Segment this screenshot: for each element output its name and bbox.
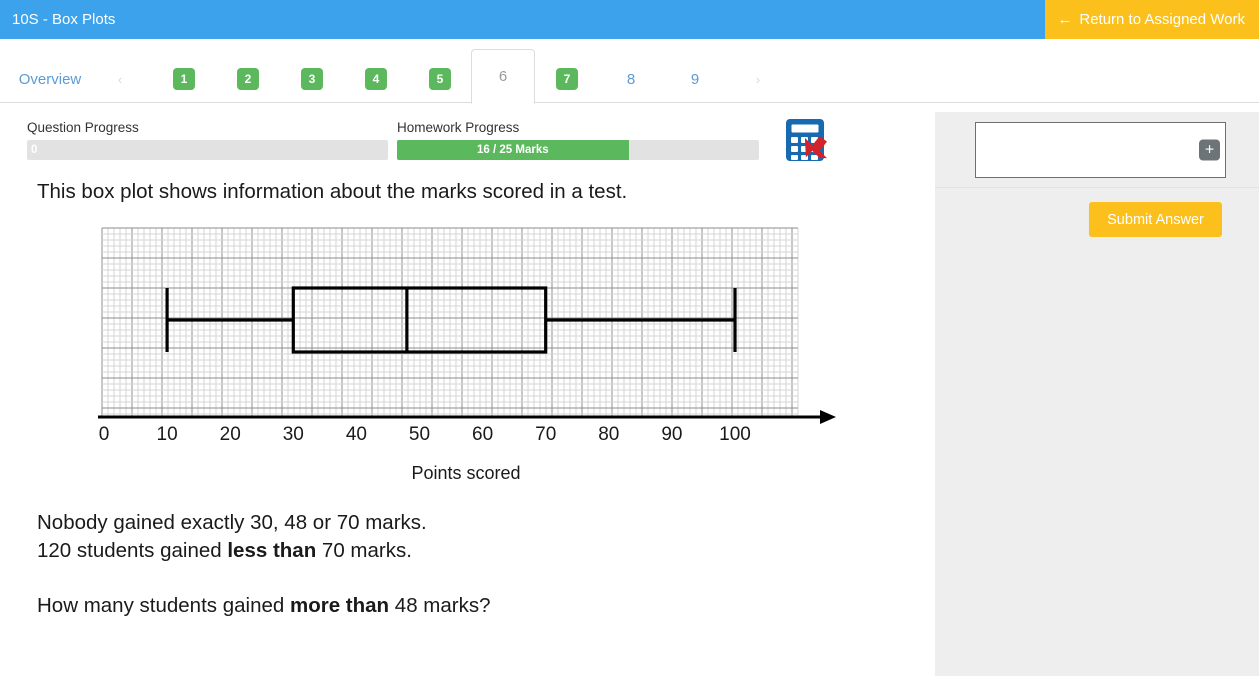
svg-text:10: 10 [157, 424, 178, 441]
back-arrow-icon: ← [1057, 12, 1072, 27]
return-button-label: Return to Assigned Work [1079, 11, 1245, 28]
svg-text:50: 50 [409, 424, 430, 441]
fact-2-suffix: 70 marks. [316, 539, 412, 562]
svg-text:90: 90 [661, 424, 682, 441]
homework-progress-value: 16 / 25 Marks [477, 144, 549, 156]
tab-label: 9 [691, 71, 699, 88]
prompt-prefix: How many students gained [37, 594, 290, 617]
tab-question-1[interactable]: 1 [160, 55, 208, 103]
fact-2-emphasis: less than [227, 539, 316, 562]
tab-overview[interactable]: Overview [14, 55, 86, 103]
svg-text:60: 60 [472, 424, 493, 441]
tab-question-6[interactable]: 6 [471, 49, 535, 104]
question-progress-bar: 0 [27, 140, 388, 160]
svg-text:0: 0 [99, 424, 110, 441]
return-to-assigned-work-button[interactable]: ← Return to Assigned Work [1045, 0, 1259, 39]
tab-question-5[interactable]: 5 [416, 55, 464, 103]
question-prompt: How many students gained more than 48 ma… [37, 594, 491, 618]
homework-progress-label: Homework Progress [397, 120, 759, 135]
tab-question-8[interactable]: 8 [607, 55, 655, 103]
homework-progress-bar: 16 / 25 Marks [397, 140, 759, 160]
tab-badge: 7 [556, 68, 578, 90]
tab-badge: 3 [301, 68, 323, 90]
tab-badge: 5 [429, 68, 451, 90]
chart-x-axis-label: Points scored [96, 463, 836, 484]
tab-scroll-right-icon[interactable]: › [748, 55, 768, 103]
tab-badge: 2 [237, 68, 259, 90]
svg-text:20: 20 [220, 424, 241, 441]
svg-text:40: 40 [346, 424, 367, 441]
question-progress-value: 0 [31, 140, 37, 160]
tab-badge: 4 [365, 68, 387, 90]
question-tab-strip: Overview ‹ 1 2 3 4 5 6 7 8 9 › [0, 39, 1259, 103]
svg-text:80: 80 [598, 424, 619, 441]
svg-text:100: 100 [719, 424, 751, 441]
answer-panel: + Submit Answer [935, 112, 1259, 676]
question-fact-line-1: Nobody gained exactly 30, 48 or 70 marks… [37, 511, 427, 535]
tab-label: 6 [499, 68, 507, 85]
tab-question-7[interactable]: 7 [543, 55, 591, 103]
tab-label: 8 [627, 71, 635, 88]
tab-question-4[interactable]: 4 [352, 55, 400, 103]
answer-input[interactable]: + [975, 122, 1226, 178]
prompt-suffix: 48 marks? [389, 594, 490, 617]
page-title: 10S - Box Plots [0, 11, 115, 28]
submit-answer-button[interactable]: Submit Answer [1089, 202, 1222, 237]
prompt-emphasis: more than [290, 594, 389, 617]
tab-scroll-left-icon[interactable]: ‹ [112, 55, 128, 103]
app-header: 10S - Box Plots ← Return to Assigned Wor… [0, 0, 1259, 39]
add-icon[interactable]: + [1199, 140, 1220, 161]
answer-input-region: + [935, 112, 1259, 188]
question-intro-text: This box plot shows information about th… [37, 180, 627, 204]
svg-text:30: 30 [283, 424, 304, 441]
tab-overview-label: Overview [19, 71, 82, 88]
calculator-not-allowed-icon[interactable] [783, 117, 838, 172]
box-plot-chart: 0102030405060708090100 [96, 226, 836, 446]
svg-text:70: 70 [535, 424, 556, 441]
tab-question-2[interactable]: 2 [224, 55, 272, 103]
question-progress-label: Question Progress [27, 120, 388, 135]
tab-question-3[interactable]: 3 [288, 55, 336, 103]
question-fact-line-2: 120 students gained less than 70 marks. [37, 539, 412, 563]
tab-badge: 1 [173, 68, 195, 90]
tab-question-9[interactable]: 9 [671, 55, 719, 103]
fact-2-prefix: 120 students gained [37, 539, 227, 562]
